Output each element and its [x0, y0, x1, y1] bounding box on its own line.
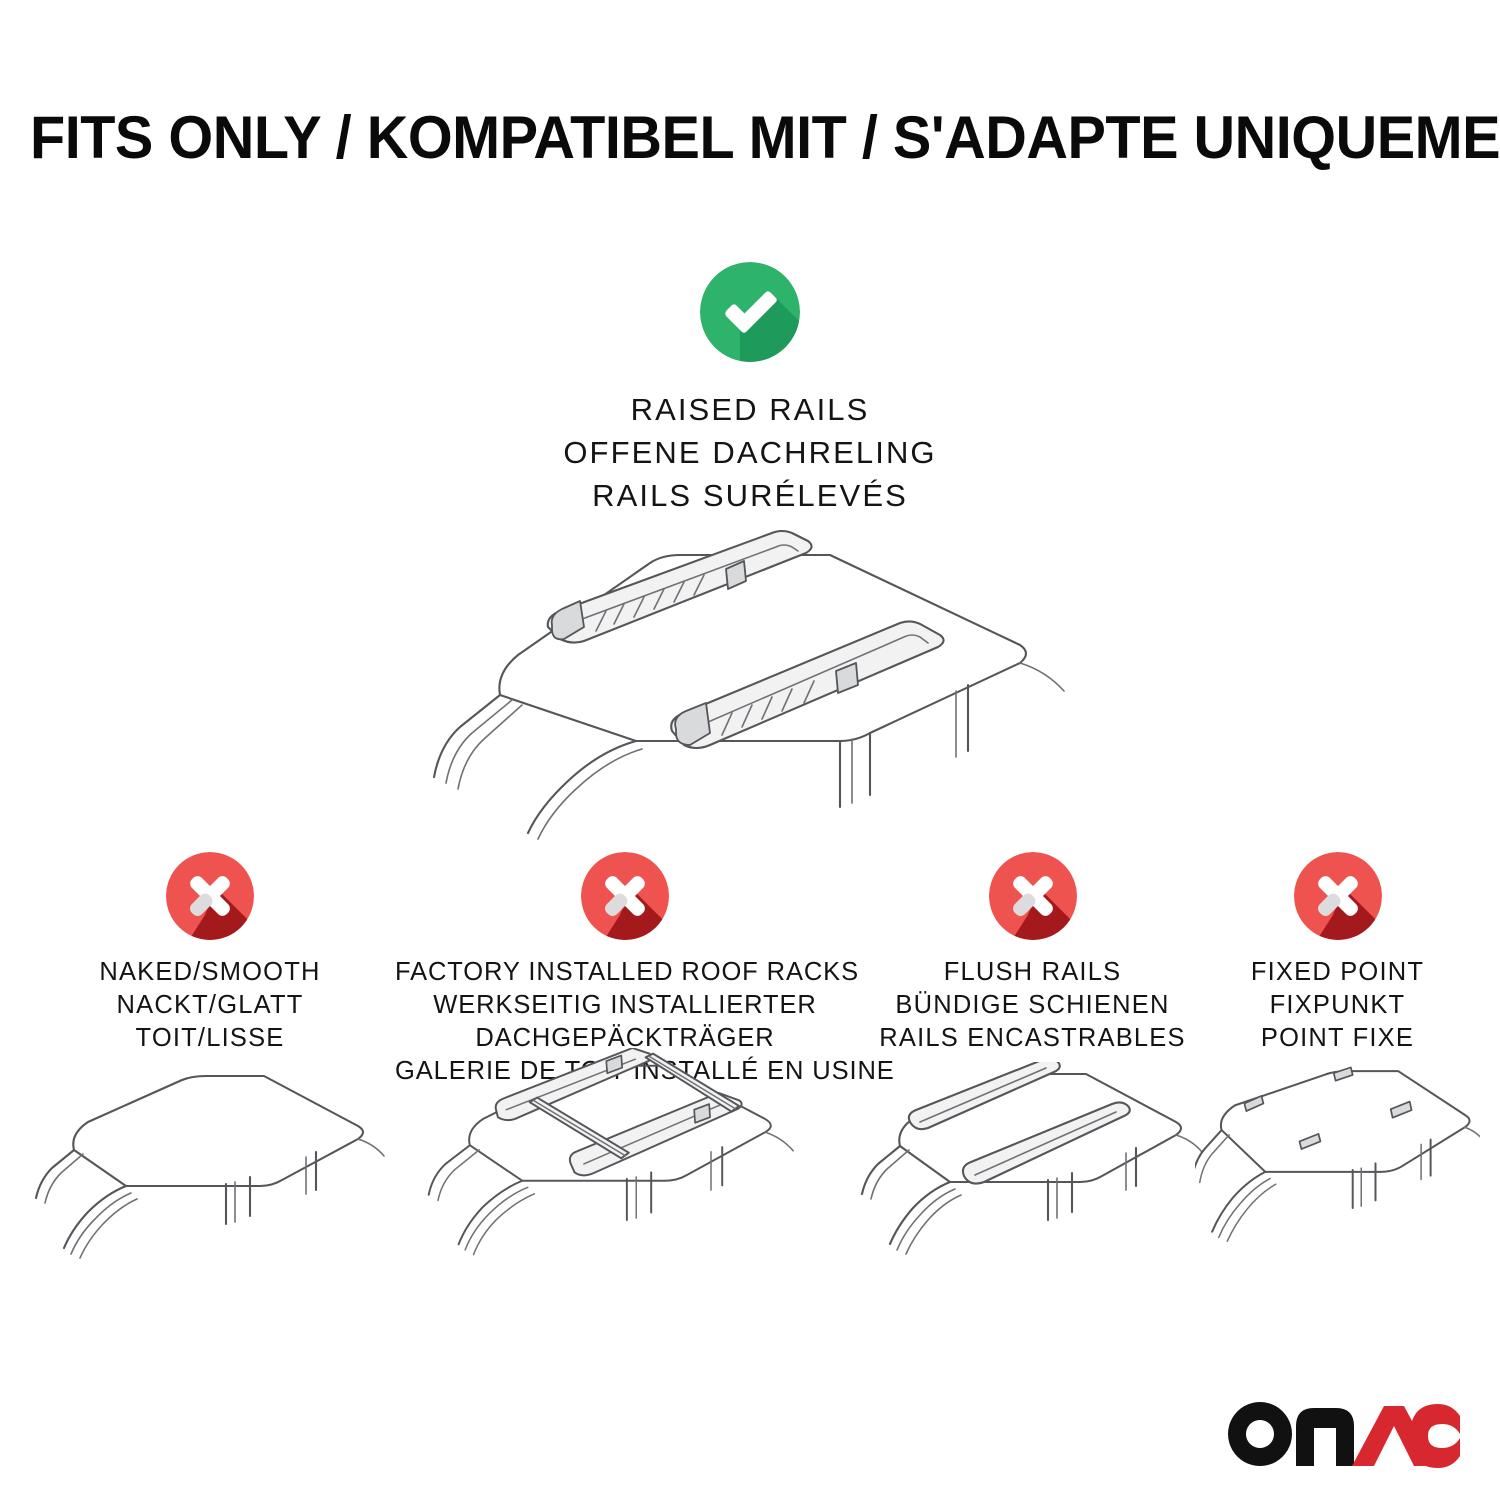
compatible-line-de: OFFENE DACHRELING [0, 431, 1500, 474]
car-roof-factory-roof-racks-illustration [395, 1048, 855, 1263]
car-roof-with-raised-rails-illustration [400, 495, 1100, 845]
caption-line-en: FIXED POINT [1195, 956, 1480, 989]
caption-line-fr: POINT FIXE [1195, 1022, 1480, 1055]
incompatible-caption-fixed-point: FIXED POINT FIXPUNKT POINT FIXE [1195, 956, 1480, 1055]
page-title: FITS ONLY / KOMPATIBEL MIT / S'ADAPTE UN… [30, 103, 1470, 173]
incompatible-item-fixed-point: FIXED POINT FIXPUNKT POINT FIXE [1195, 852, 1480, 1055]
check-circle-icon [700, 262, 800, 362]
omac-logo [1228, 1398, 1460, 1470]
logo-letter-c [1410, 1404, 1460, 1468]
logo-letter-m [1296, 1408, 1354, 1466]
incompatible-section: NAKED/SMOOTH NACKT/GLATT TOIT/LISSE [0, 852, 1500, 1472]
car-roof-fixed-point-illustration [1195, 1062, 1480, 1277]
cross-circle-icon [1294, 852, 1382, 940]
caption-line-de-1: WERKSEITIG INSTALLIERTER [395, 989, 855, 1022]
incompatible-item-naked-smooth: NAKED/SMOOTH NACKT/GLATT TOIT/LISSE [30, 852, 390, 1055]
caption-line-de: NACKT/GLATT [30, 989, 390, 1022]
caption-line-de: BÜNDIGE SCHIENEN [860, 989, 1205, 1022]
caption-line-fr: TOIT/LISSE [30, 1022, 390, 1055]
logo-letter-o [1228, 1402, 1292, 1466]
caption-line-de: FIXPUNKT [1195, 989, 1480, 1022]
compatible-line-en: RAISED RAILS [0, 388, 1500, 431]
car-roof-flush-rails-illustration [860, 1062, 1205, 1277]
caption-line-fr: RAILS ENCASTRABLES [860, 1022, 1205, 1055]
car-roof-naked-smooth-illustration [30, 1062, 390, 1277]
incompatible-item-flush-rails: FLUSH RAILS BÜNDIGE SCHIENEN RAILS ENCAS… [860, 852, 1205, 1055]
cross-circle-icon [989, 852, 1077, 940]
cross-circle-icon [166, 852, 254, 940]
incompatible-item-factory-roof-racks: FACTORY INSTALLED ROOF RACKS WERKSEITIG … [395, 852, 855, 1088]
incompatible-caption-naked-smooth: NAKED/SMOOTH NACKT/GLATT TOIT/LISSE [30, 956, 390, 1055]
compatible-section: RAISED RAILS OFFENE DACHRELING RAILS SUR… [0, 262, 1500, 517]
incompatible-caption-flush-rails: FLUSH RAILS BÜNDIGE SCHIENEN RAILS ENCAS… [860, 956, 1205, 1055]
caption-line-en: FACTORY INSTALLED ROOF RACKS [395, 956, 855, 989]
cross-circle-icon [581, 852, 669, 940]
caption-line-en: FLUSH RAILS [860, 956, 1205, 989]
caption-line-en: NAKED/SMOOTH [30, 956, 390, 989]
